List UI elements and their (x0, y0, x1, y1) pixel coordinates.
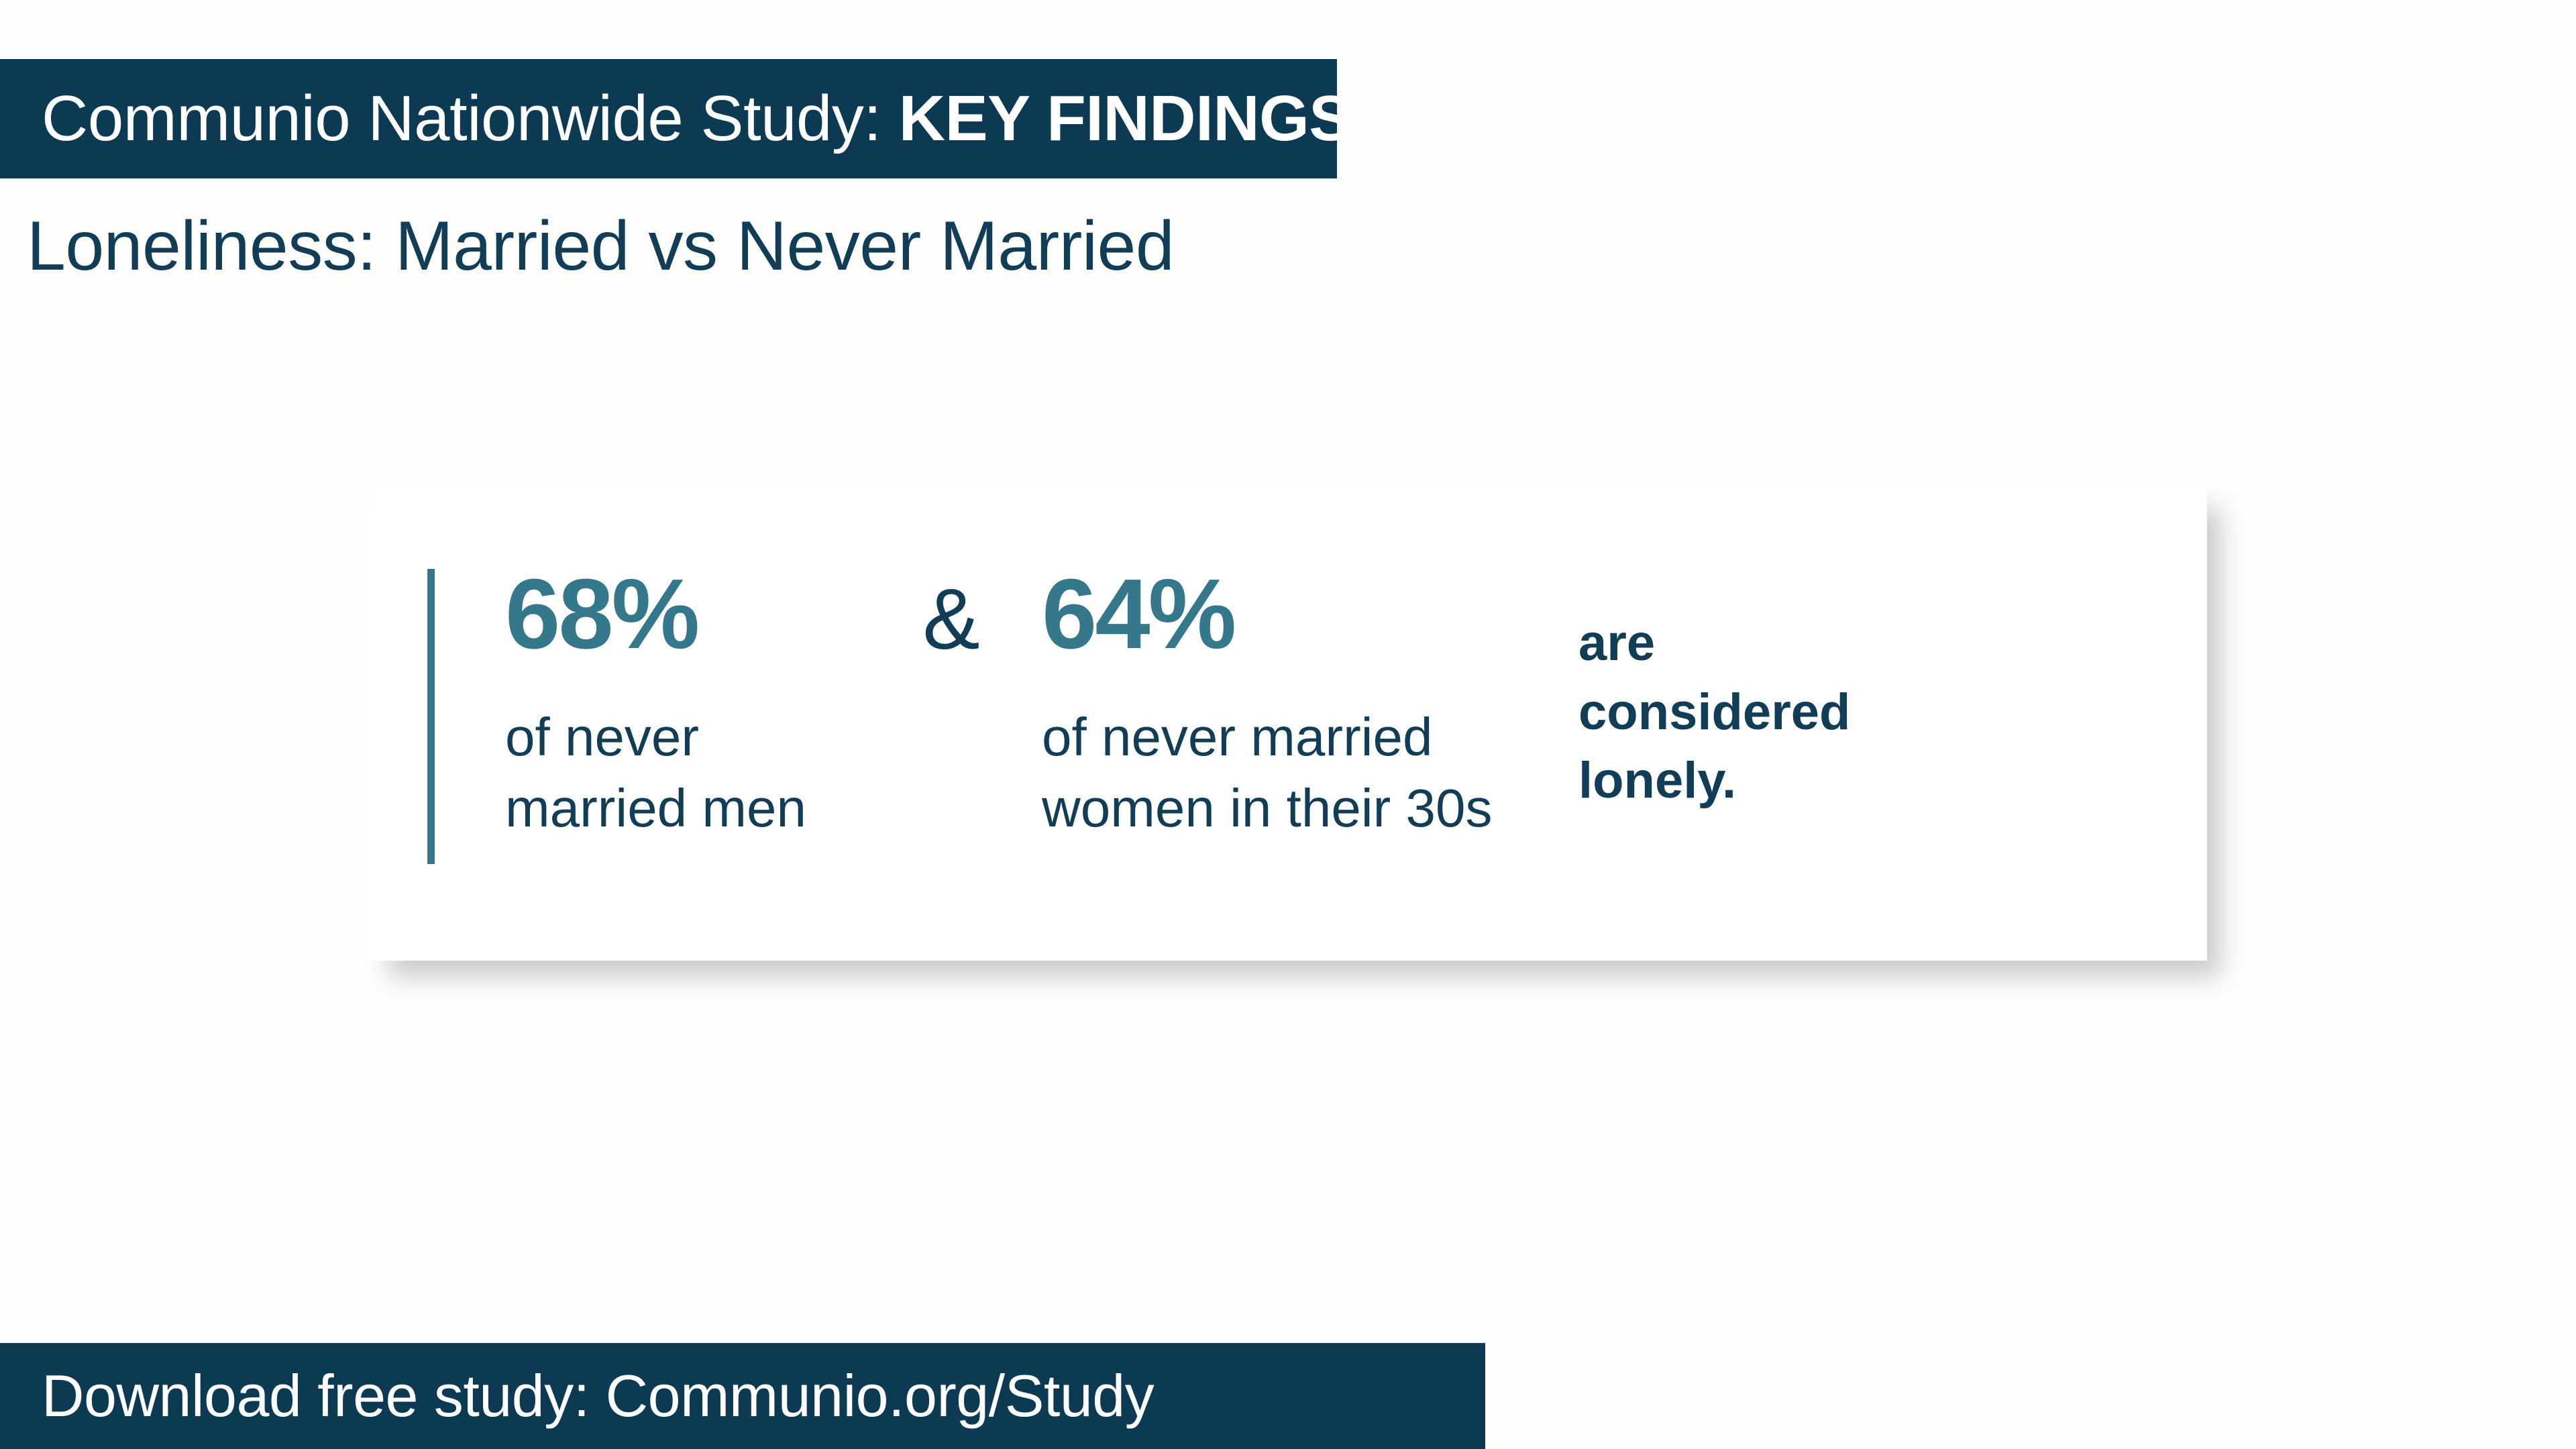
header-title: Communio Nationwide Study: KEY FINDINGS (42, 87, 1352, 151)
stat-caption-men: of never married men (505, 702, 800, 843)
header-title-emphasis: KEY FINDINGS (899, 83, 1352, 154)
header-title-prefix: Communio Nationwide Study (42, 83, 863, 154)
header-title-separator: : (863, 83, 898, 154)
stat-conclusion-line2: considered (1578, 678, 2088, 747)
stat-value-women: 64% (1042, 565, 1471, 664)
stat-conclusion-text: are considered lonely. (1578, 609, 2088, 816)
stat-conclusion-line3: lonely. (1578, 747, 2088, 816)
stat-value-men: 68% (505, 565, 800, 664)
stat-conclusion: are considered lonely. (1578, 484, 2088, 816)
stat-conclusion-line1: are (1578, 609, 2088, 678)
stat-caption-men-line2: married men (505, 773, 800, 844)
stat-caption-women: of never married women in their 30s (1042, 702, 1471, 843)
footer-banner[interactable]: Download free study: Communio.org/Study (0, 1343, 1485, 1449)
stat-conjunction: & (898, 484, 1005, 663)
footer-download-link[interactable]: Download free study: Communio.org/Study (42, 1366, 1154, 1426)
stat-block-women: 64% of never married women in their 30s (1042, 484, 1471, 843)
key-finding-card-body: 68% of never married men & 64% of never … (368, 484, 2207, 961)
stat-caption-men-line1: of never (505, 702, 800, 773)
stat-block-men: 68% of never married men (505, 484, 800, 843)
page-title: Loneliness: Married vs Never Married (27, 208, 1174, 284)
header-banner: Communio Nationwide Study: KEY FINDINGS (0, 59, 1337, 178)
stat-caption-women-line2: women in their 30s (1042, 773, 1471, 844)
key-finding-card: 68% of never married men & 64% of never … (368, 484, 2207, 961)
ampersand-symbol: & (898, 577, 1005, 663)
accent-rule (427, 569, 435, 864)
stat-caption-women-line1: of never married (1042, 702, 1471, 773)
